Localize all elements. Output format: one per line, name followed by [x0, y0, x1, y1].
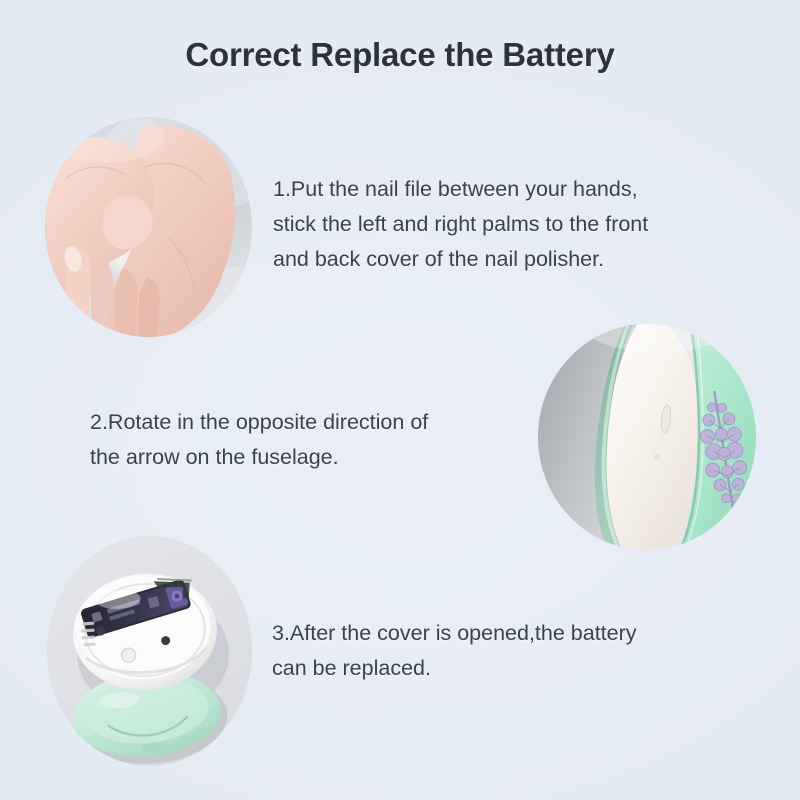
page-title: Correct Replace the Battery — [0, 36, 800, 74]
device-closeup-flower-decal-photo — [538, 324, 756, 550]
opened-battery-compartment-photo — [47, 536, 252, 766]
infographic-page: Correct Replace the Battery — [0, 0, 800, 800]
step-1-text: 1.Put the nail file between your hands, … — [273, 172, 773, 277]
hands-holding-nail-polisher-photo — [45, 117, 252, 337]
step-2-text: 2.Rotate in the opposite direction of th… — [90, 405, 545, 475]
step-3-text: 3.After the cover is opened,the battery … — [272, 616, 752, 686]
